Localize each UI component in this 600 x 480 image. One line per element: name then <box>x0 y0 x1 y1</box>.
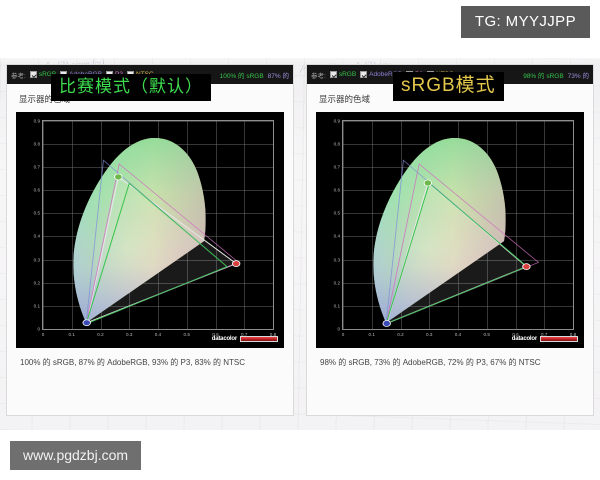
y-axis-tick: 0.8 <box>34 142 40 147</box>
x-axis-tick: 0.4 <box>155 332 161 337</box>
x-axis-tick: 0.3 <box>126 332 132 337</box>
y-axis-tick: 0.4 <box>334 234 340 239</box>
y-axis-tick: 0.5 <box>334 211 340 216</box>
datacolor-brand-text: datacolor <box>512 336 537 342</box>
x-axis-tick: 0 <box>42 332 45 337</box>
gamut-panel-left: 参考: sRGB AdobeRGB P3 NTSC <box>6 64 294 416</box>
y-axis-tick: 0.5 <box>34 211 40 216</box>
x-axis-tick: 0 <box>342 332 345 337</box>
x-axis-tick: 0.2 <box>397 332 403 337</box>
cie-horseshoe-right <box>343 121 573 329</box>
x-axis-tick: 0.2 <box>97 332 103 337</box>
toolbar-stat-adobe: 73% 的 <box>568 70 589 80</box>
x-axis-tick: 0.1 <box>69 332 75 337</box>
green-primary-point <box>424 180 431 186</box>
x-axis-tick: 0.3 <box>426 332 432 337</box>
y-axis-tick: 0.3 <box>34 257 40 262</box>
toolbar-checkbox-label: sRGB <box>339 71 356 78</box>
toolbar-label: 参考: <box>11 70 26 80</box>
datacolor-logo-right: datacolor <box>512 336 578 342</box>
datacolor-bar-icon <box>540 336 578 342</box>
y-axis-tick: 0.6 <box>34 188 40 193</box>
y-axis-tick: 0.9 <box>334 119 340 124</box>
datacolor-bar-icon <box>240 336 278 342</box>
red-primary-point <box>523 264 530 270</box>
blue-primary-point <box>83 320 90 326</box>
checkbox-icon[interactable] <box>30 71 37 78</box>
y-axis-tick: 0.8 <box>334 142 340 147</box>
y-axis-tick: 0.9 <box>34 119 40 124</box>
y-axis-tick: 0.1 <box>34 303 40 308</box>
x-axis-tick: 0.5 <box>184 332 190 337</box>
cie-horseshoe-left <box>43 121 273 329</box>
checkbox-icon[interactable] <box>330 71 337 78</box>
cie-chart-left: 0.9 0.8 0.7 0.6 0.5 0.4 0.3 0.2 0.1 0 0 … <box>16 112 284 348</box>
y-axis-tick: 0.1 <box>334 303 340 308</box>
blue-primary-point <box>383 320 390 326</box>
y-axis-tick: 0.3 <box>334 257 340 262</box>
y-axis-tick: 0.4 <box>34 234 40 239</box>
panel-caption-right: sRGB模式 <box>393 72 504 101</box>
gamut-panel-right: 参考: sRGB AdobeRGB P3 NTSC <box>306 64 594 416</box>
datacolor-logo-left: datacolor <box>212 336 278 342</box>
tg-badge: TG: MYYJJPP <box>461 6 590 38</box>
y-axis-tick: 0.2 <box>334 280 340 285</box>
coverage-result-left: 100% 的 sRGB, 87% 的 AdobeRGB, 93% 的 P3, 8… <box>7 348 293 368</box>
y-axis-tick: 0.7 <box>34 165 40 170</box>
toolbar-stat-adobe: 87% 的 <box>268 70 289 80</box>
cie-chart-right: 0.9 0.8 0.7 0.6 0.5 0.4 0.3 0.2 0.1 0 0 … <box>316 112 584 348</box>
y-axis-tick: 0 <box>337 327 340 332</box>
red-primary-point <box>232 261 239 267</box>
cie-plot-area-left: 0.9 0.8 0.7 0.6 0.5 0.4 0.3 0.2 0.1 0 0 … <box>42 120 274 330</box>
site-watermark: www.pgdzbj.com <box>10 441 141 470</box>
y-axis-tick: 0.7 <box>334 165 340 170</box>
coverage-result-right: 98% 的 sRGB, 73% 的 AdobeRGB, 72% 的 P3, 67… <box>307 348 593 368</box>
x-axis-tick: 0.1 <box>369 332 375 337</box>
panel-caption-left: 比赛模式（默认） <box>51 74 211 101</box>
x-axis-tick: 0.5 <box>484 332 490 337</box>
screenshot-root: TG: MYYJJPP //2, ~~~ L ,'2) ~~~ f~) /~ ~… <box>0 0 600 480</box>
checkbox-icon[interactable] <box>360 71 367 78</box>
y-axis-tick: 0 <box>37 327 40 332</box>
photo-strip: //2, ~~~ L ,'2) ~~~ f~) /~ ~~ ///, ~~ L … <box>0 58 600 430</box>
y-axis-tick: 0.2 <box>34 280 40 285</box>
toolbar-stat-srgb: 98% 的 sRGB <box>523 70 563 80</box>
green-primary-point <box>115 174 122 180</box>
x-axis-tick: 0.4 <box>455 332 461 337</box>
toolbar-stat-srgb: 100% 的 sRGB <box>220 70 264 80</box>
datacolor-brand-text: datacolor <box>212 336 237 342</box>
y-axis-tick: 0.6 <box>334 188 340 193</box>
cie-plot-area-right: 0.9 0.8 0.7 0.6 0.5 0.4 0.3 0.2 0.1 0 0 … <box>342 120 574 330</box>
toolbar-checkbox-srgb[interactable]: sRGB <box>330 71 356 78</box>
toolbar-label: 参考: <box>311 70 326 80</box>
